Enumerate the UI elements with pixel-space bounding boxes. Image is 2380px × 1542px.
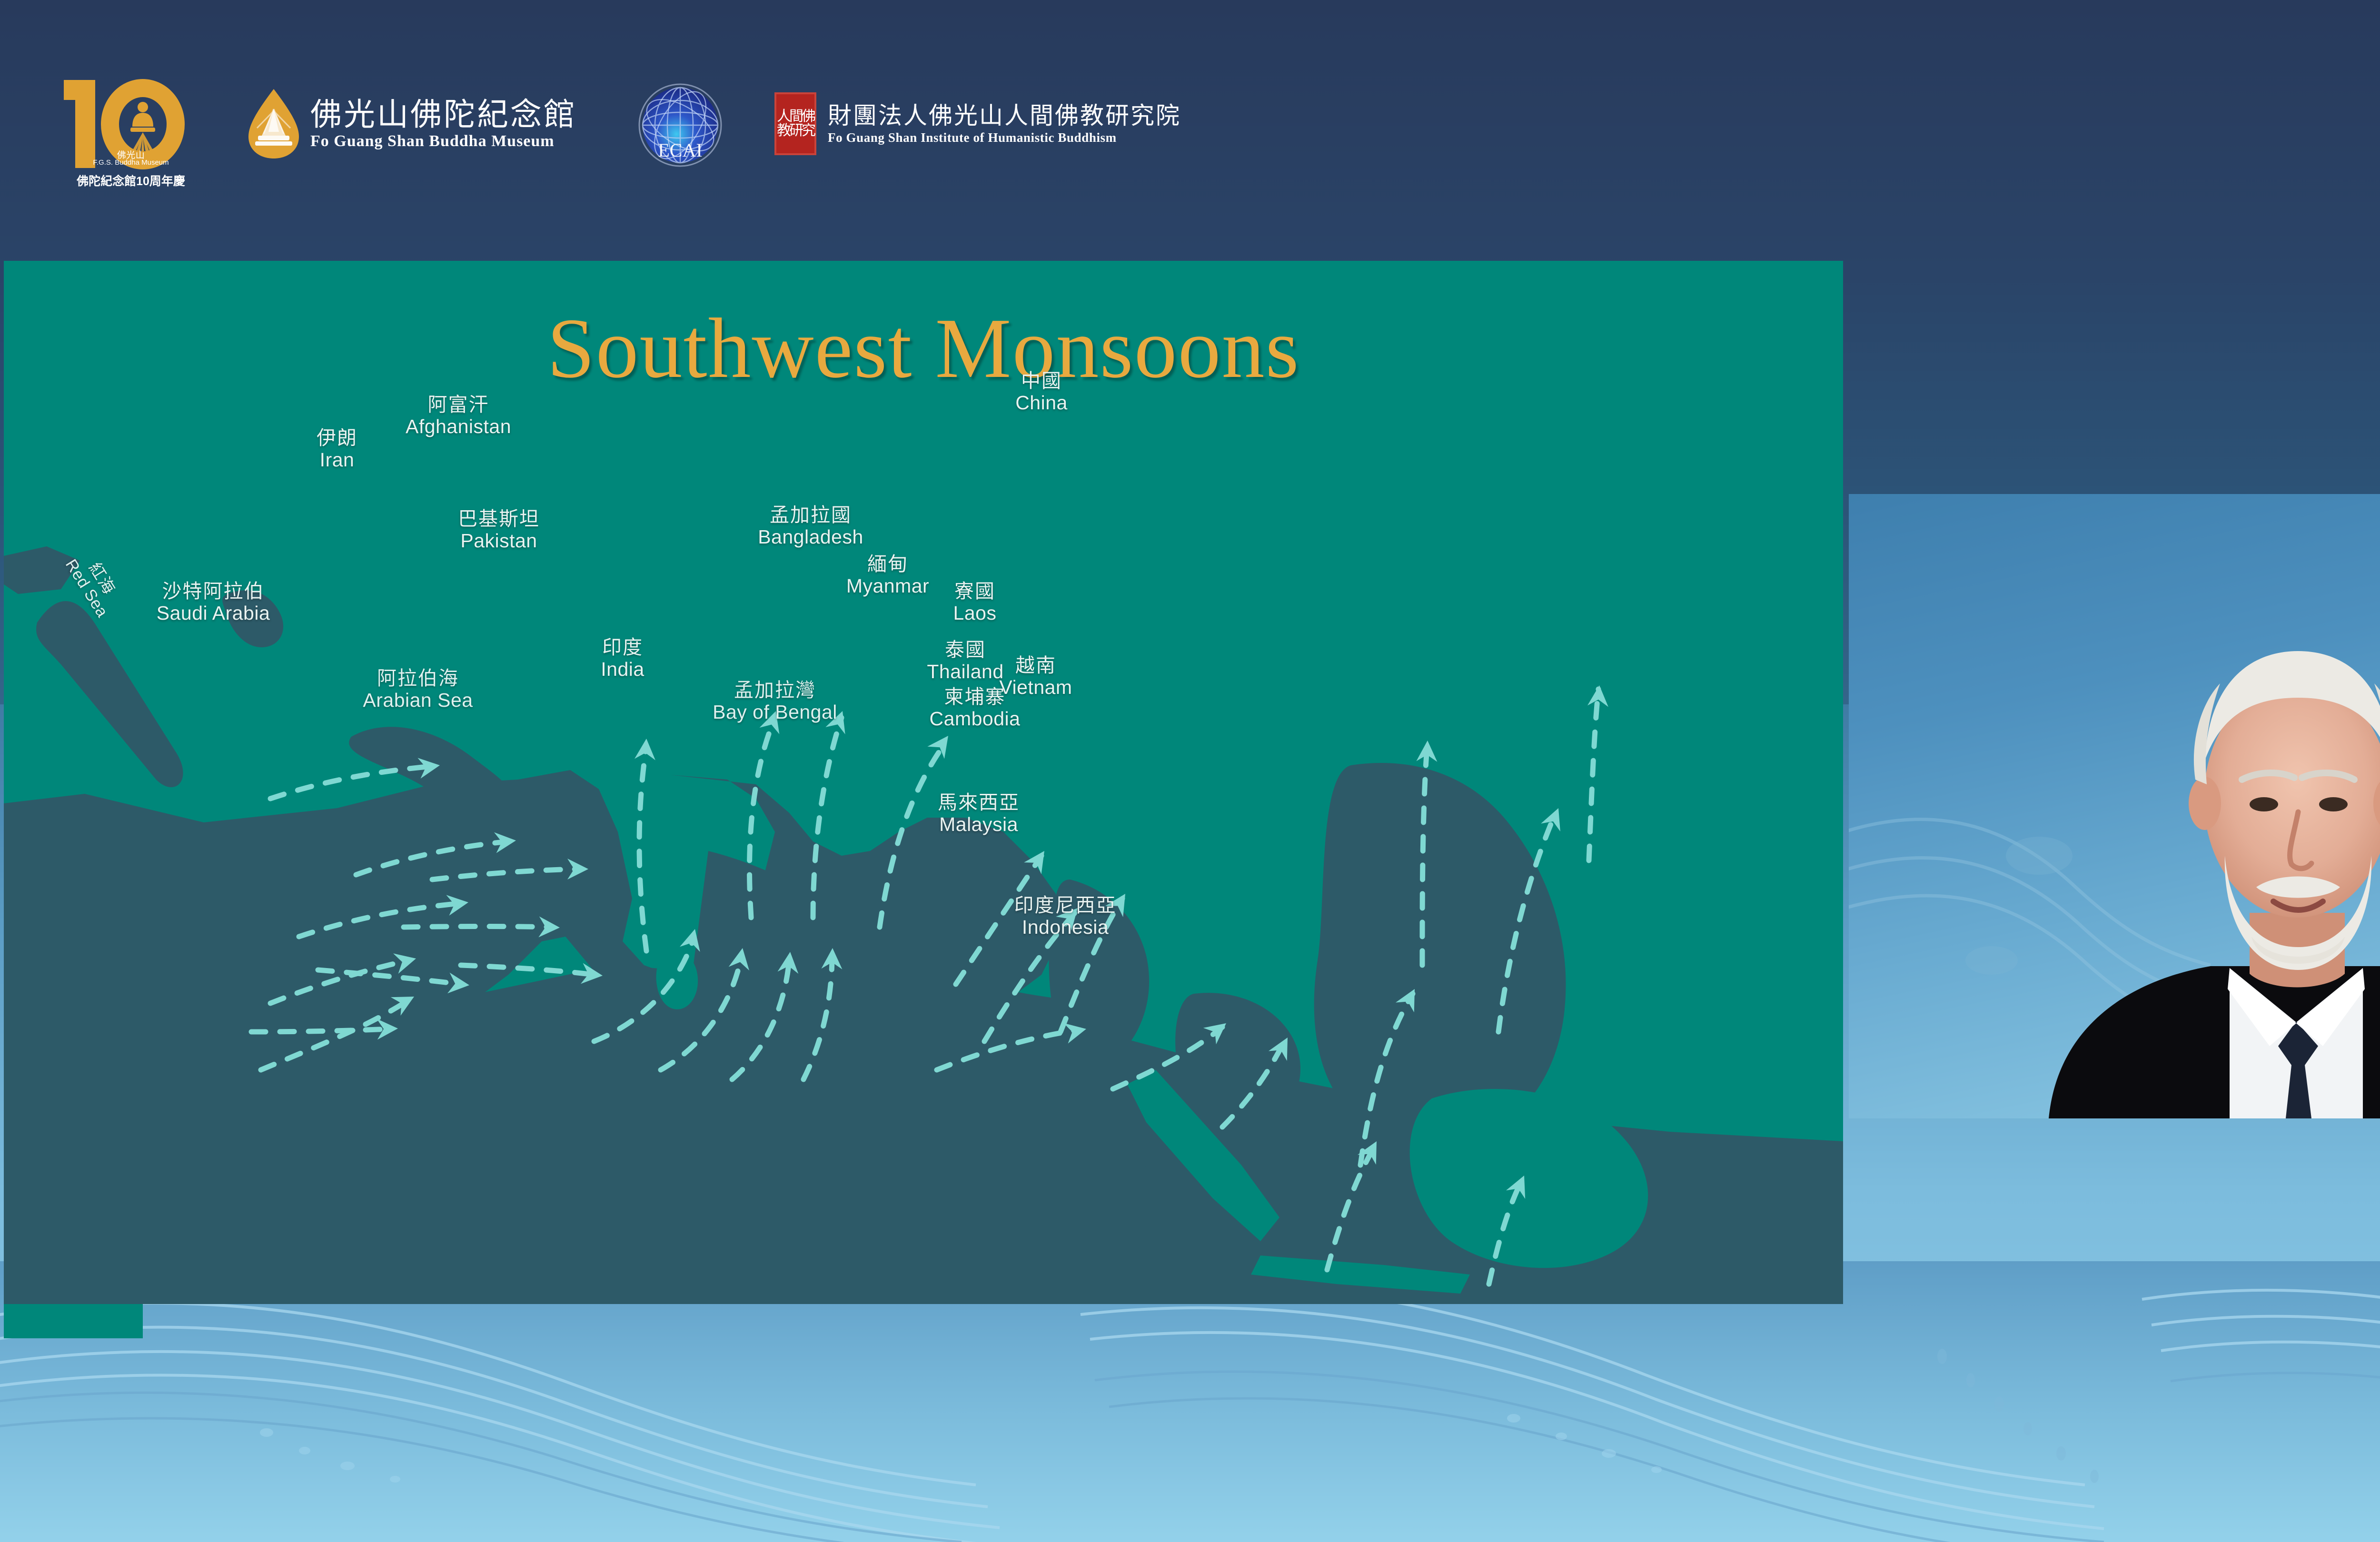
map-label-arabian-sea: 阿拉伯海Arabian Sea xyxy=(363,668,473,712)
institute-name-zh: 財團法人佛光山人間佛教研究院 xyxy=(828,103,1181,128)
buddha-silhouette-icon xyxy=(129,100,157,152)
map-label-en: Pakistan xyxy=(458,530,540,552)
map-label-cambodia: 柬埔寨Cambodia xyxy=(930,686,1021,730)
map-label-zh: 泰國 xyxy=(927,639,1003,661)
bodhi-leaf-stupa-icon xyxy=(248,88,300,159)
logo-fo-guang-shan-buddha-museum: 佛光山佛陀紀念館 Fo Guang Shan Buddha Museum xyxy=(248,88,577,159)
map-label-zh: 緬甸 xyxy=(846,554,929,575)
red-seal-icon: 人間佛教研究 xyxy=(774,92,816,155)
map-label-bangladesh: 孟加拉國Bangladesh xyxy=(758,504,863,548)
map-label-zh: 阿富汗 xyxy=(406,394,511,416)
anniversary-caption-en-small: F.G.S. Buddha Museum xyxy=(71,158,190,167)
presentation-slide[interactable]: Southwest Monsoons 中國China阿富汗Afghanistan… xyxy=(4,261,1843,1304)
buddha-museum-name-en: Fo Guang Shan Buddha Museum xyxy=(310,133,577,150)
map-label-en: Cambodia xyxy=(930,708,1021,730)
map-label-indonesia: 印度尼西亞Indonesia xyxy=(1014,895,1117,939)
map-label-zh: 寮國 xyxy=(953,581,997,603)
map-label-pakistan: 巴基斯坦Pakistan xyxy=(458,508,540,552)
screen: 佛光山 F.G.S. Buddha Museum 佛陀紀念館10周年慶 xyxy=(0,0,2380,1542)
map-label-zh: 印度尼西亞 xyxy=(1014,895,1117,917)
slide-bottom-edge xyxy=(4,1304,143,1338)
map-label-china: 中國China xyxy=(1015,370,1068,414)
map-label-en: Bay of Bengal xyxy=(713,702,837,723)
map-label-zh: 柬埔寨 xyxy=(930,686,1021,708)
map-label-saudi-arabia: 沙特阿拉伯Saudi Arabia xyxy=(157,581,270,624)
institute-name-en: Fo Guang Shan Institute of Humanistic Bu… xyxy=(828,131,1181,144)
seal-characters: 人間佛教研究 xyxy=(776,109,814,138)
map-label-malaysia: 馬來西亞Malaysia xyxy=(938,792,1020,836)
map-label-india: 印度India xyxy=(601,637,644,681)
map-label-en: Myanmar xyxy=(846,575,929,597)
map-label-zh: 馬來西亞 xyxy=(938,792,1020,814)
logo-ecai: ECAI xyxy=(634,78,774,170)
map-label-zh: 孟加拉灣 xyxy=(713,680,837,702)
map-label-en: Laos xyxy=(953,603,997,624)
buddha-museum-name-zh: 佛光山佛陀紀念館 xyxy=(310,98,577,131)
map-label-bay-of-bengal: 孟加拉灣Bay of Bengal xyxy=(713,680,837,723)
map-label-myanmar: 緬甸Myanmar xyxy=(846,554,929,597)
map-label-laos: 寮國Laos xyxy=(953,581,997,624)
map-label-en: India xyxy=(601,659,644,681)
organization-logo-bar: 佛光山 F.G.S. Buddha Museum 佛陀紀念館10周年慶 xyxy=(0,0,2380,247)
map-label-thailand: 泰國Thailand xyxy=(927,639,1003,683)
map-label-zh: 中國 xyxy=(1015,370,1068,392)
logo-fgs-institute-of-humanistic-buddhism: 人間佛教研究 財團法人佛光山人間佛教研究院 Fo Guang Shan Inst… xyxy=(774,92,1181,155)
map-label-zh: 巴基斯坦 xyxy=(458,508,540,530)
map-label-zh: 越南 xyxy=(999,655,1072,677)
svg-text:ECAI: ECAI xyxy=(658,139,702,161)
map-label-en: Bangladesh xyxy=(758,526,863,548)
map-label-en: Saudi Arabia xyxy=(157,603,270,624)
map-label-zh: 伊朗 xyxy=(317,427,357,449)
ecai-globe-icon: ECAI xyxy=(634,78,727,170)
map-label-en: Indonesia xyxy=(1014,917,1117,939)
map-label-zh: 孟加拉國 xyxy=(758,504,863,526)
monsoon-map-graphic xyxy=(4,261,1843,1304)
map-label-iran: 伊朗Iran xyxy=(317,427,357,471)
map-label-en: Thailand xyxy=(927,661,1003,683)
map-label-afghanistan: 阿富汗Afghanistan xyxy=(406,394,511,438)
map-label-zh: 沙特阿拉伯 xyxy=(157,581,270,603)
map-label-en: Afghanistan xyxy=(406,416,511,438)
logo-fgs-buddha-museum-10th-anniversary: 佛光山 F.G.S. Buddha Museum 佛陀紀念館10周年慶 xyxy=(71,55,190,193)
speaker-video-panel[interactable] xyxy=(1849,494,2380,1118)
map-label-en: Malaysia xyxy=(938,814,1020,836)
map-label-zh: 阿拉伯海 xyxy=(363,668,473,690)
map-label-en: Iran xyxy=(317,449,357,471)
speaker-portrait xyxy=(1849,494,2380,1118)
map-label-en: Arabian Sea xyxy=(363,690,473,712)
anniversary-caption-zh-large: 佛陀紀念館10周年慶 xyxy=(71,172,190,189)
map-label-zh: 印度 xyxy=(601,637,644,659)
map-label-en: China xyxy=(1015,392,1068,414)
